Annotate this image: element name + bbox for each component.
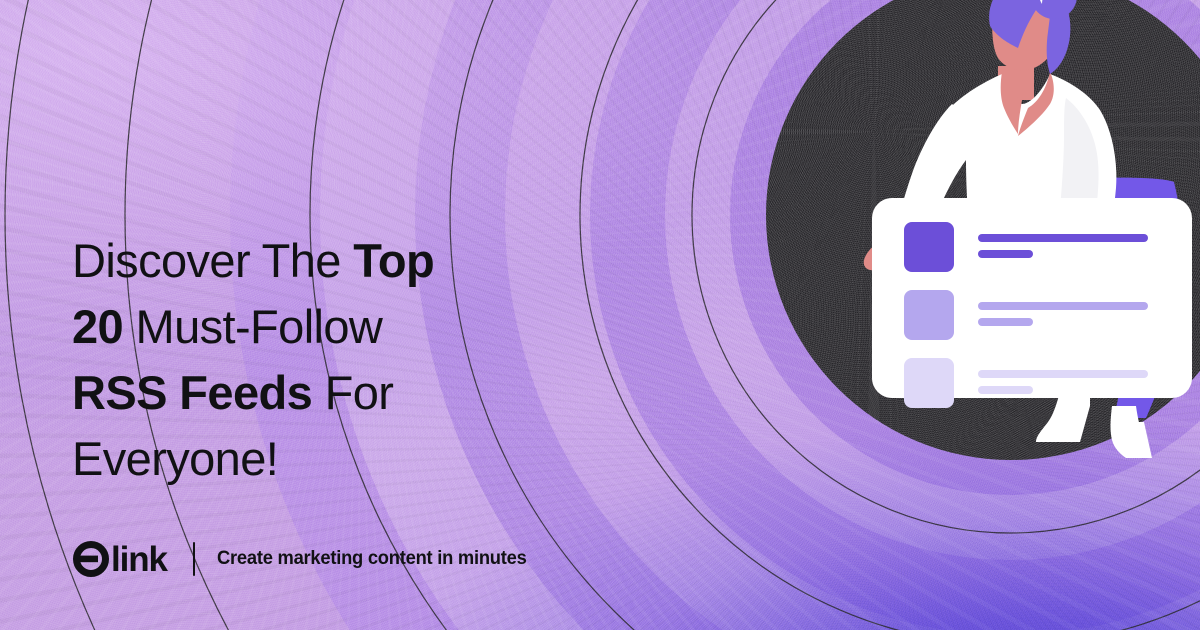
- card-row-3-thumbnail: [904, 358, 954, 408]
- content-list-card: [872, 198, 1192, 408]
- headline-line-2: 20 Must-Follow: [72, 294, 552, 360]
- elink-e-logo-icon: [72, 540, 110, 578]
- elink-wordmark: link: [111, 542, 167, 577]
- headline-seg-1b: Top: [353, 234, 434, 287]
- headline-line-3: RSS Feeds For: [72, 360, 552, 426]
- headline: Discover The Top 20 Must-Follow RSS Feed…: [72, 228, 552, 492]
- card-row-3-bar-short: [978, 386, 1033, 394]
- headline-line-4: Everyone!: [72, 426, 552, 492]
- card-row-1-bar-long: [978, 234, 1148, 242]
- headline-seg-1a: Discover The: [72, 234, 353, 287]
- headline-seg-3b: For: [312, 366, 393, 419]
- brand-lockup: link Create marketing content in minutes: [72, 540, 547, 578]
- card-row-1-bar-short: [978, 250, 1033, 258]
- card-row-2-bar-short: [978, 318, 1033, 326]
- headline-seg-2a: 20: [72, 300, 123, 353]
- illustration-woman-with-content-card: [766, 0, 1200, 460]
- headline-seg-3a: RSS Feeds: [72, 366, 312, 419]
- banner-root: Discover The Top 20 Must-Follow RSS Feed…: [0, 0, 1200, 630]
- card-row-2-bar-long: [978, 302, 1148, 310]
- headline-seg-2b: Must-Follow: [123, 300, 382, 353]
- brand-tagline: Create marketing content in minutes: [217, 549, 527, 569]
- card-row-2-thumbnail: [904, 290, 954, 340]
- brand-divider: [193, 542, 196, 576]
- card-row-1-thumbnail: [904, 222, 954, 272]
- headline-seg-4a: Everyone!: [72, 432, 278, 485]
- headline-line-1: Discover The Top: [72, 228, 552, 294]
- card-row-3-bar-long: [978, 370, 1148, 378]
